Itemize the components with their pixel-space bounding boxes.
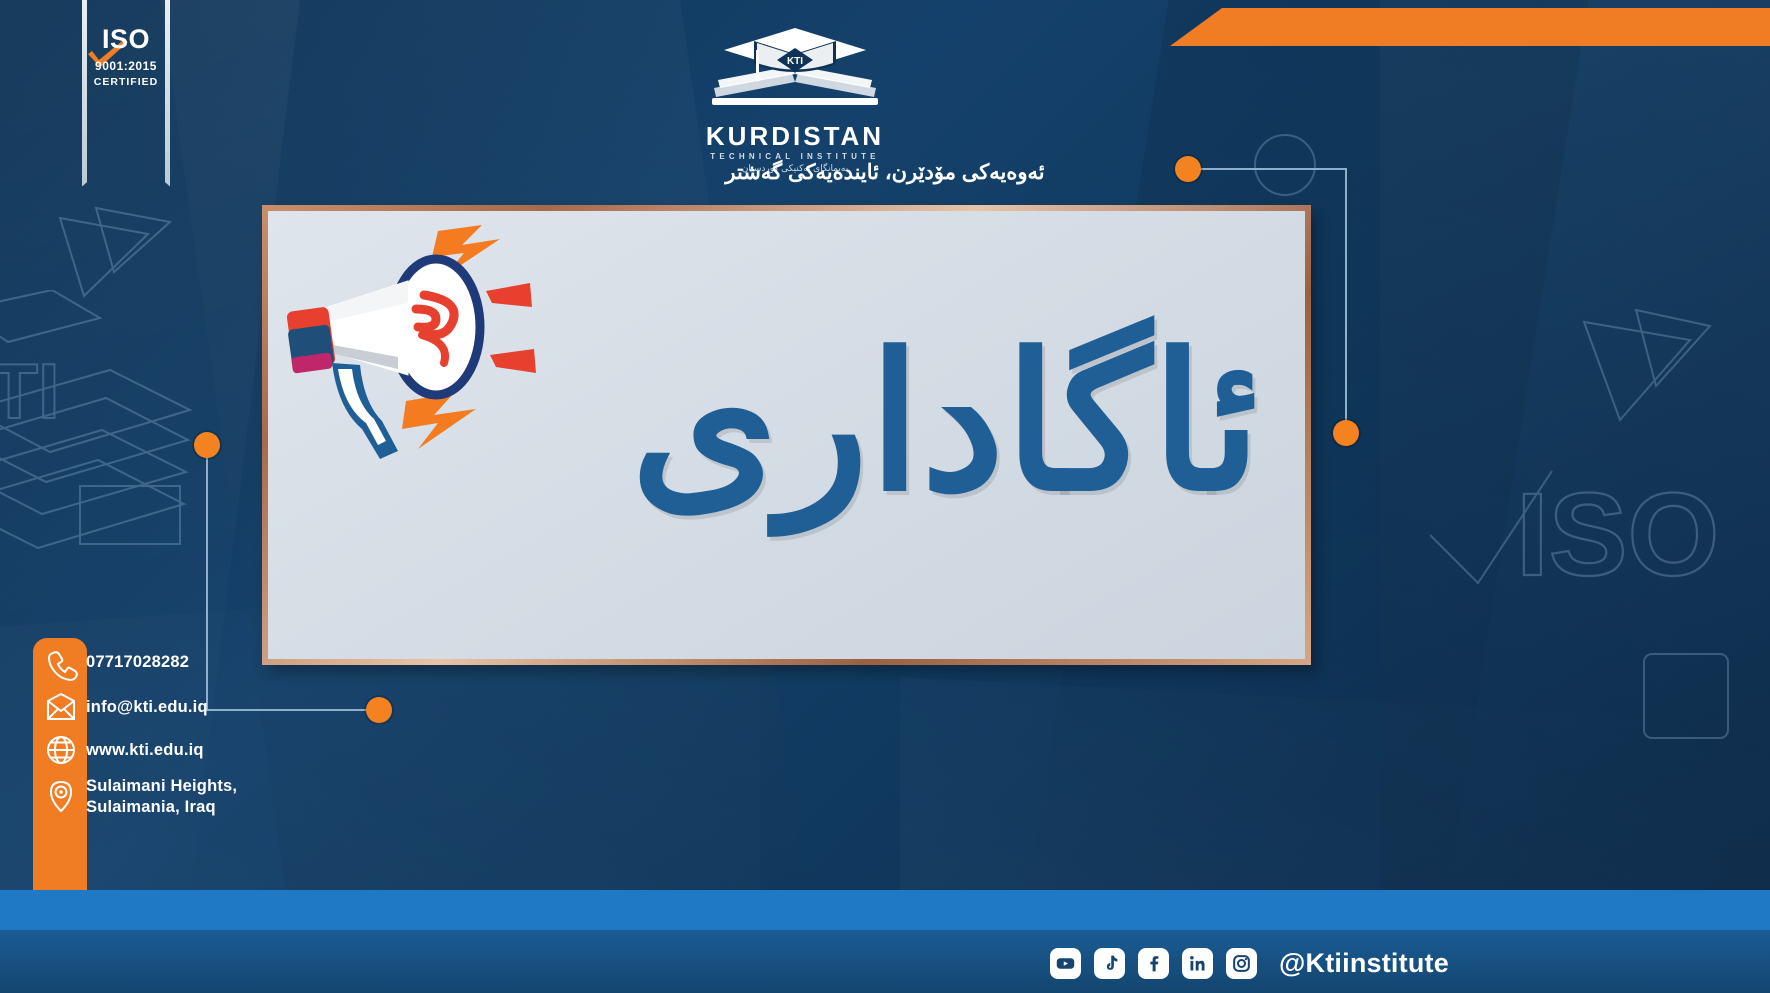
phone-icon bbox=[43, 646, 79, 682]
triangle-watermark-right bbox=[1560, 300, 1730, 450]
accent-dot-top-right bbox=[1175, 156, 1201, 182]
contact-address-line2: Sulaimania, Iraq bbox=[86, 797, 237, 818]
iso-standard: 9001:2015 bbox=[78, 59, 174, 73]
square-watermark bbox=[1630, 640, 1750, 760]
announcement-card: ئاگاداری bbox=[262, 205, 1311, 665]
contact-email[interactable]: info@kti.edu.iq bbox=[86, 697, 208, 718]
tiktok-icon[interactable] bbox=[1094, 948, 1125, 979]
connector-line-right-vertical bbox=[1345, 168, 1347, 428]
email-icon bbox=[43, 690, 79, 726]
social-links: @Ktiinstitute bbox=[1050, 948, 1449, 979]
globe-icon bbox=[43, 732, 79, 768]
connector-line-left-vertical bbox=[206, 452, 208, 710]
iso-watermark: ISO bbox=[1430, 415, 1770, 615]
logo-wordmark: KURDISTAN bbox=[700, 123, 890, 149]
top-accent-bar bbox=[1170, 8, 1770, 46]
triangle-watermark-left bbox=[40, 200, 180, 310]
facebook-icon[interactable] bbox=[1138, 948, 1169, 979]
bg-panel-4 bbox=[1380, 0, 1770, 993]
linkedin-icon[interactable] bbox=[1182, 948, 1213, 979]
accent-dot-right bbox=[1333, 420, 1359, 446]
megaphone-icon bbox=[286, 223, 586, 473]
svg-text:ISO: ISO bbox=[1516, 469, 1719, 601]
youtube-icon[interactable] bbox=[1050, 948, 1081, 979]
announcement-card-inner: ئاگاداری bbox=[268, 211, 1305, 659]
contact-phone[interactable]: 07717028282 bbox=[86, 652, 189, 673]
iso-label: ISO bbox=[78, 26, 174, 53]
kti-watermark-text: KTI bbox=[0, 347, 60, 435]
footer-bar bbox=[0, 890, 1770, 993]
social-handle[interactable]: @Ktiinstitute bbox=[1279, 948, 1449, 979]
logo-monogram: KTI bbox=[787, 56, 803, 67]
location-pin-icon bbox=[43, 778, 79, 814]
card-headline: ئاگاداری bbox=[631, 329, 1261, 517]
kti-logo: KTI KURDISTAN TECHNICAL INSTITUTE پەیمان… bbox=[700, 24, 890, 174]
connector-line-top bbox=[1197, 168, 1347, 170]
tagline: ئەوەیەکی مۆدێرن، ئایندەیەکی گەشتر bbox=[0, 160, 1770, 185]
books-watermark: KTI bbox=[0, 290, 260, 570]
graduation-cap-book-icon: KTI bbox=[700, 24, 890, 116]
accent-dot-bottom bbox=[366, 697, 392, 723]
contact-address-line1: Sulaimani Heights, bbox=[86, 776, 237, 797]
contact-website[interactable]: www.kti.edu.iq bbox=[86, 740, 204, 761]
instagram-icon[interactable] bbox=[1226, 948, 1257, 979]
connector-line-bottom bbox=[206, 709, 381, 711]
accent-dot-left bbox=[194, 432, 220, 458]
announcement-poster: KTI ISO bbox=[0, 0, 1770, 993]
iso-status: CERTIFIED bbox=[78, 76, 174, 88]
